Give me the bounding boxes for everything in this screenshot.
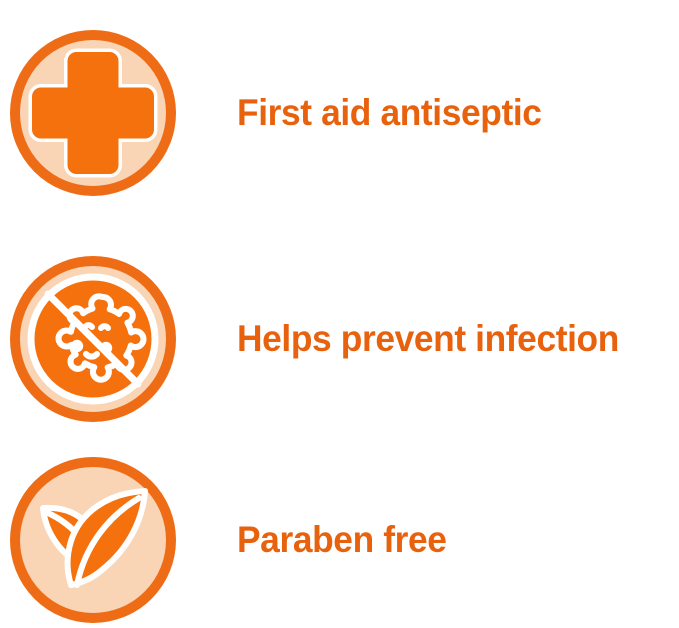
feature-label: Paraben free [237, 521, 659, 560]
feature-row: Helps prevent infection [0, 226, 679, 452]
no-germs-icon [7, 253, 179, 425]
feature-row: Paraben free [0, 452, 679, 628]
leaves-icon [7, 454, 179, 626]
feature-label: Helps prevent infection [237, 320, 659, 359]
feature-label: First aid antiseptic [237, 94, 659, 133]
feature-list: First aid antiseptic [0, 0, 679, 628]
first-aid-cross-icon [7, 27, 179, 199]
feature-row: First aid antiseptic [0, 0, 679, 226]
